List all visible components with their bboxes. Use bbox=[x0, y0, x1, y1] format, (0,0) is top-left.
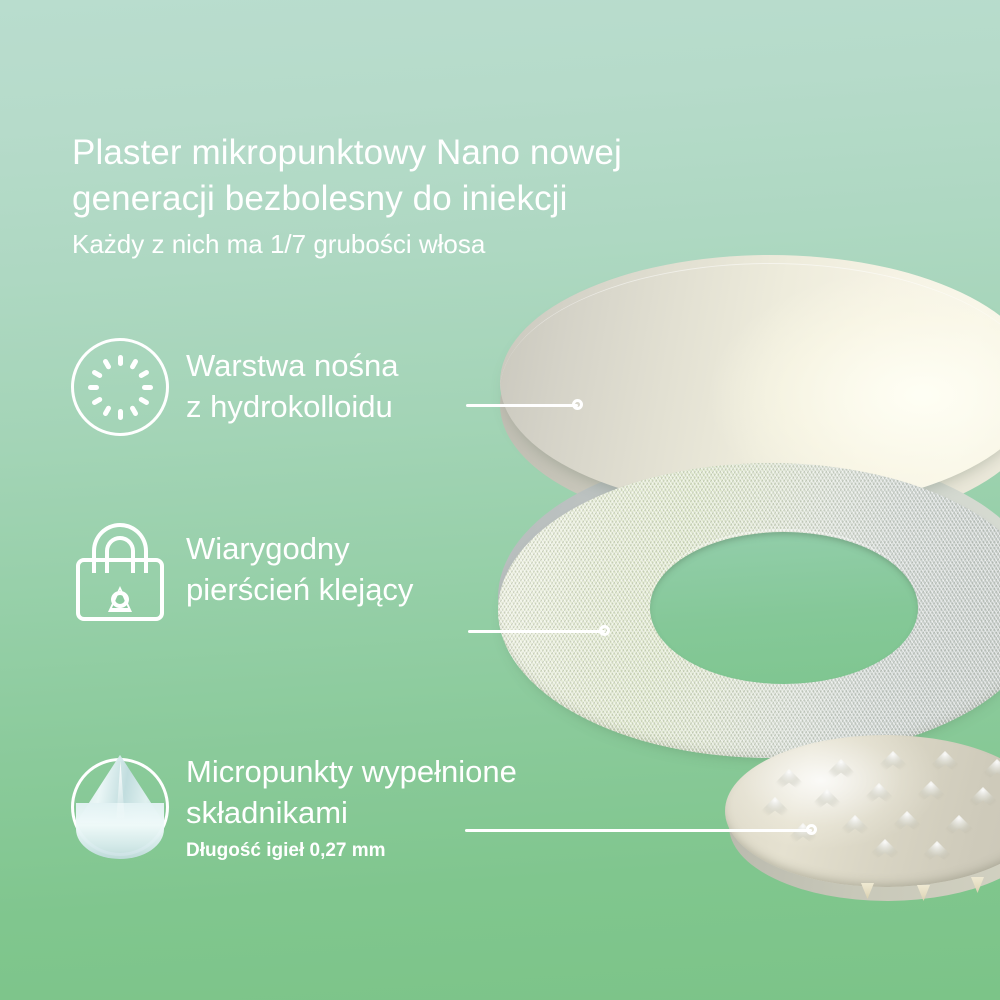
padlock-icon bbox=[70, 520, 170, 620]
product-illustration bbox=[470, 255, 1000, 915]
feature-label-line2: składnikami bbox=[186, 793, 517, 834]
keyhole-ring bbox=[111, 591, 129, 608]
feature-label-line1: Wiarygodny bbox=[186, 529, 413, 570]
dashed-circle-icon bbox=[70, 337, 170, 437]
ring-hole-highlight bbox=[650, 529, 918, 681]
feature-text: Warstwa nośna z hydrokolloidu bbox=[186, 346, 399, 428]
feature-label-line2: z hydrokolloidu bbox=[186, 387, 399, 428]
feature-label-line2: pierścień klejący bbox=[186, 570, 413, 611]
feature-note: Długość igieł 0,27 mm bbox=[186, 840, 517, 862]
page-title-line1: Plaster mikropunktowy Nano nowej bbox=[72, 130, 752, 176]
lock-shape bbox=[76, 523, 164, 621]
leader-line-microneedles bbox=[465, 829, 812, 832]
feature-microneedles: Micropunkty wypełnione składnikami Długo… bbox=[70, 752, 517, 862]
feature-text: Wiarygodny pierścień klejący bbox=[186, 529, 413, 611]
leader-dot-microneedles bbox=[806, 824, 817, 835]
feature-label-line1: Micropunkty wypełnione bbox=[186, 752, 517, 793]
microneedle-cone-icon bbox=[70, 757, 170, 857]
feature-label-line1: Warstwa nośna bbox=[186, 346, 399, 387]
page-title-line2: generacji bezbolesny do iniekcji bbox=[72, 176, 752, 222]
leader-dot-carrier-layer bbox=[572, 399, 583, 410]
feature-adhesive-ring: Wiarygodny pierścień klejący bbox=[70, 520, 413, 620]
leader-line-adhesive-ring bbox=[468, 630, 605, 633]
header-block: Plaster mikropunktowy Nano nowej generac… bbox=[72, 130, 752, 262]
cone-shape bbox=[76, 755, 164, 859]
page-subtitle: Każdy z nich ma 1/7 grubości włosa bbox=[72, 228, 752, 262]
adhesive-mesh-ring bbox=[498, 463, 1000, 758]
leader-line-carrier-layer bbox=[466, 404, 578, 407]
leader-dot-adhesive-ring bbox=[599, 625, 610, 636]
dashed-ring bbox=[93, 360, 147, 414]
feature-text: Micropunkty wypełnione składnikami Długo… bbox=[186, 752, 517, 862]
microneedle-bottom-disc bbox=[725, 735, 1000, 915]
feature-carrier-layer: Warstwa nośna z hydrokolloidu bbox=[70, 337, 399, 437]
